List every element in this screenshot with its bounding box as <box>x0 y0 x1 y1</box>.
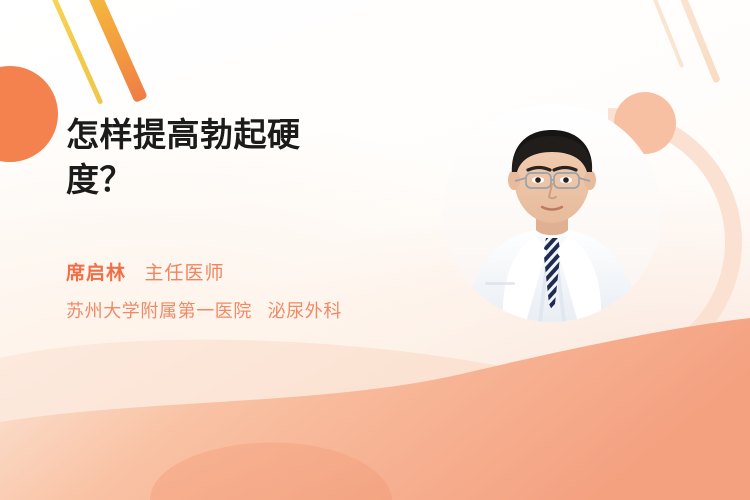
doctor-name: 席启林 <box>66 263 126 284</box>
page-title: 怎样提高勃起硬度？ <box>66 112 366 202</box>
doctor-portrait-avatar <box>443 104 661 322</box>
byline: 席启林 主任医师 <box>66 258 446 285</box>
department-name: 泌尿外科 <box>268 301 342 321</box>
doctor-title: 主任医师 <box>144 263 224 284</box>
text-block: 怎样提高勃起硬度？ 席启林 主任医师 苏州大学附属第一医院 泌尿外科 <box>66 112 446 323</box>
video-cover-canvas: 怎样提高勃起硬度？ 席启林 主任医师 苏州大学附属第一医院 泌尿外科 <box>0 0 750 500</box>
affiliation: 苏州大学附属第一医院 泌尿外科 <box>66 297 446 323</box>
portrait-stripe-wedge-icon <box>443 236 661 322</box>
hospital-name: 苏州大学附属第一医院 <box>66 301 252 321</box>
